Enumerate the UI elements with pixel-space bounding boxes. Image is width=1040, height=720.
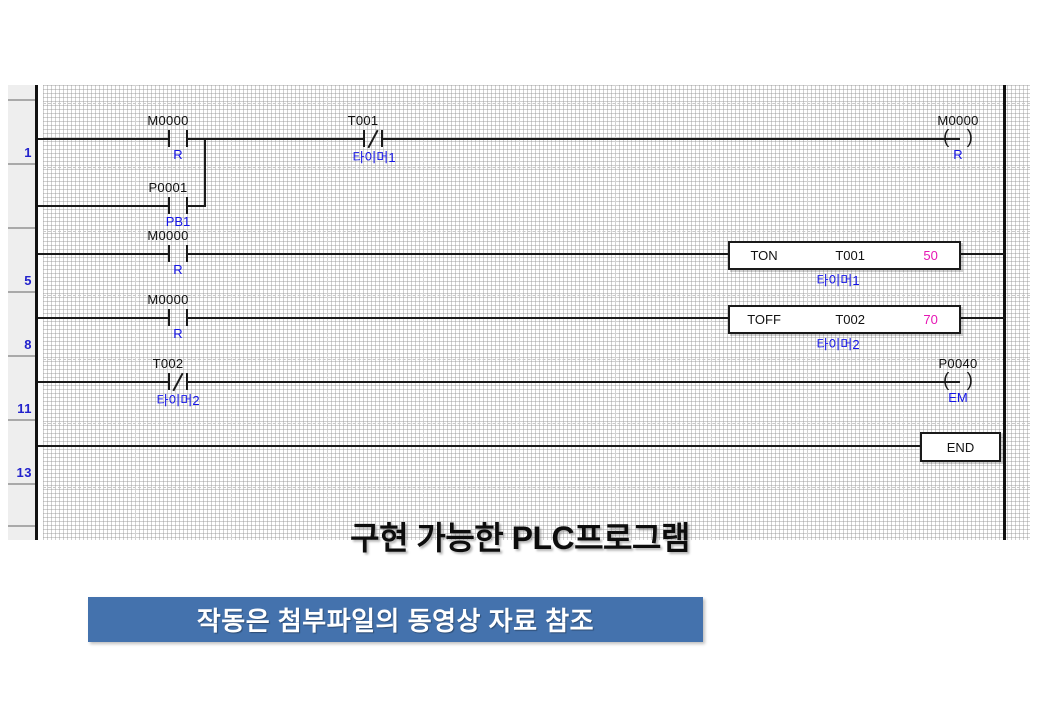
- gutter-separator: [8, 355, 35, 357]
- rung-wire: [188, 317, 728, 319]
- note-banner-text: 작동은 첨부파일의 동영상 자료 참조: [197, 601, 594, 638]
- rung-wire: [188, 381, 960, 383]
- gutter-separator: [8, 419, 35, 421]
- grid-line-vertical: [711, 85, 712, 540]
- contact-negation-slash: [363, 130, 383, 147]
- coil-paren-left: (: [943, 372, 949, 390]
- coil-paren-right: ): [967, 372, 973, 390]
- contact-bar-left: [168, 130, 170, 147]
- contact-address-m0000: M0000: [128, 292, 208, 307]
- contact-symbol-r: R: [138, 326, 218, 341]
- instruction-symbol-timer2: 타이머2: [783, 334, 893, 353]
- contact-address-t001: T001: [323, 113, 403, 128]
- contact-bar-right: [186, 309, 188, 326]
- rung-wire: [38, 138, 168, 140]
- rung-wire: [188, 253, 728, 255]
- contact-bar-right: [186, 197, 188, 214]
- instruction-operation: TOFF: [730, 312, 798, 327]
- contact-address-m0000: M0000: [128, 228, 208, 243]
- contact-nc-t001[interactable]: [363, 130, 383, 147]
- rung-number-13[interactable]: 13: [8, 465, 32, 480]
- branch-wire: [38, 205, 168, 207]
- rung-wire: [38, 445, 920, 447]
- note-banner: 작동은 첨부파일의 동영상 자료 참조: [88, 597, 703, 642]
- contact-bar-left: [168, 197, 170, 214]
- contact-symbol-timer1: 타이머1: [326, 147, 422, 166]
- contact-address-p0001: P0001: [128, 180, 208, 195]
- contact-symbol-r: R: [138, 147, 218, 162]
- contact-address-t002: T002: [128, 356, 208, 371]
- rung-wire: [188, 138, 363, 140]
- rung-wire: [38, 253, 168, 255]
- contact-address-m0000: M0000: [128, 113, 208, 128]
- rung-wire: [383, 138, 960, 140]
- instruction-preset: 70: [902, 312, 959, 327]
- rung-number-8[interactable]: 8: [8, 337, 32, 352]
- grid-line-horizontal: [43, 423, 1030, 424]
- coil-address-m0000: M0000: [918, 113, 998, 128]
- coil-m0000[interactable]: ( ): [943, 129, 973, 147]
- gutter-separator: [8, 99, 35, 101]
- contact-bar-left: [168, 309, 170, 326]
- rung-number-11[interactable]: 11: [8, 401, 32, 416]
- contact-no-p0001[interactable]: [168, 197, 188, 214]
- grid-line-vertical: [519, 85, 520, 540]
- coil-symbol-r: R: [918, 147, 998, 162]
- contact-nc-t002[interactable]: [168, 373, 188, 390]
- gutter-separator: [8, 227, 35, 229]
- slide-root: 1 5 8 11 13 M0000 R: [0, 0, 1040, 720]
- coil-paren-right: ): [967, 129, 973, 147]
- contact-bar-right: [186, 245, 188, 262]
- instruction-box-end[interactable]: END: [920, 432, 1001, 462]
- grid-line-vertical: [231, 85, 232, 540]
- contact-symbol-timer2: 타이머2: [130, 390, 226, 409]
- rung-wire: [38, 381, 168, 383]
- rung-number-gutter[interactable]: 1 5 8 11 13: [8, 85, 35, 540]
- rung-number-1[interactable]: 1: [8, 145, 32, 160]
- contact-bar-right: [186, 130, 188, 147]
- rung-number-5[interactable]: 5: [8, 273, 32, 288]
- grid-line-horizontal: [43, 487, 1030, 488]
- contact-symbol-r: R: [138, 262, 218, 277]
- plc-ladder-editor[interactable]: 1 5 8 11 13 M0000 R: [8, 85, 1030, 540]
- coil-paren-left: (: [943, 129, 949, 147]
- contact-no-m0000[interactable]: [168, 309, 188, 326]
- contact-symbol-pb1: PB1: [138, 214, 218, 229]
- instruction-target: T001: [798, 248, 902, 263]
- contact-negation-slash: [168, 373, 188, 390]
- gutter-separator: [8, 291, 35, 293]
- branch-wire: [188, 205, 205, 207]
- instruction-symbol-timer1: 타이머1: [783, 270, 893, 289]
- coil-p0040[interactable]: ( ): [943, 372, 973, 390]
- grid-line-vertical: [423, 85, 424, 540]
- instruction-preset: 50: [902, 248, 959, 263]
- gutter-separator: [8, 483, 35, 485]
- slide-title-caption: 구현 가능한 PLC프로그램: [0, 513, 1040, 559]
- rung-wire: [957, 253, 1005, 255]
- grid-line-vertical: [135, 85, 136, 540]
- rung-wire: [957, 317, 1005, 319]
- grid-line-horizontal: [43, 167, 1030, 168]
- grid-line-horizontal: [43, 103, 1030, 104]
- instruction-operation: TON: [730, 248, 798, 263]
- contact-no-m0000[interactable]: [168, 245, 188, 262]
- instruction-box-ton[interactable]: TON T001 50: [728, 241, 961, 270]
- instruction-target: T002: [798, 312, 902, 327]
- rung-wire: [38, 317, 168, 319]
- gutter-separator: [8, 163, 35, 165]
- instruction-box-toff[interactable]: TOFF T002 70: [728, 305, 961, 334]
- grid-line-vertical: [615, 85, 616, 540]
- coil-address-p0040: P0040: [918, 356, 998, 371]
- contact-bar-left: [168, 245, 170, 262]
- contact-no-m0000[interactable]: [168, 130, 188, 147]
- coil-symbol-em: EM: [918, 390, 998, 405]
- right-power-rail: [1003, 85, 1006, 540]
- left-power-rail: [35, 85, 38, 540]
